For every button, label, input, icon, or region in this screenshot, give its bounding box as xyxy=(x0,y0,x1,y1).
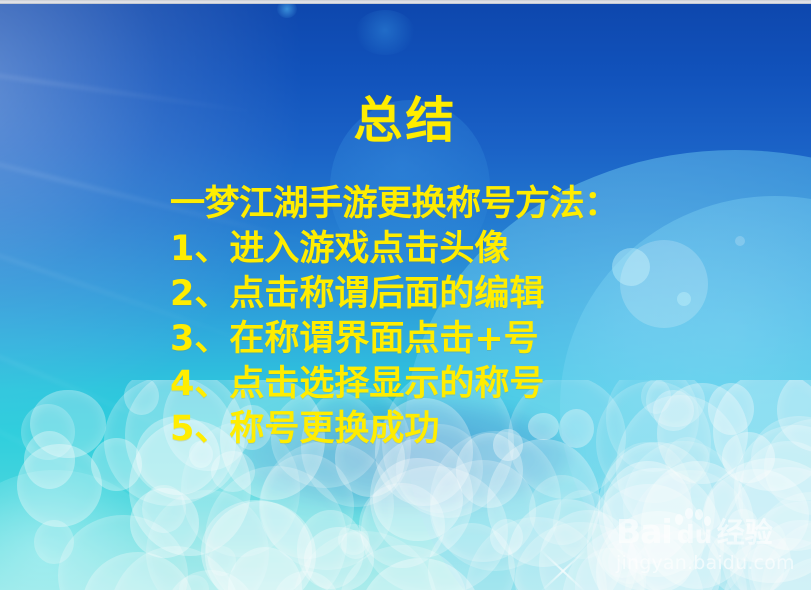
body-line-heading: 一梦江湖手游更换称号方法： xyxy=(170,182,790,227)
background-orb xyxy=(355,10,415,55)
body-line-step-5: 5、称号更换成功 xyxy=(170,407,790,452)
body-line-step-2: 2、点击称谓后面的编辑 xyxy=(170,272,790,317)
baidu-jingyan-watermark: Bai du 经验 jingyan.baidu.com xyxy=(616,506,806,578)
body-line-step-1: 1、进入游戏点击头像 xyxy=(170,227,790,272)
window-top-edge xyxy=(0,0,811,4)
watermark-brand-row: Bai du 经验 xyxy=(616,506,806,548)
slide-body: 一梦江湖手游更换称号方法： 1、进入游戏点击头像 2、点击称谓后面的编辑 3、在… xyxy=(170,182,790,452)
watermark-brand-latin: Bai xyxy=(616,515,672,548)
sparkle-icon xyxy=(532,540,594,590)
body-line-step-4: 4、点击选择显示的称号 xyxy=(170,362,790,407)
page-title: 总结 xyxy=(0,96,811,145)
body-line-step-3: 3、在称谓界面点击+号 xyxy=(170,317,790,362)
paw-print-icon: du xyxy=(673,508,713,548)
presentation-slide: 总结 一梦江湖手游更换称号方法： 1、进入游戏点击头像 2、点击称谓后面的编辑 … xyxy=(0,0,811,590)
watermark-url: jingyan.baidu.com xyxy=(616,552,806,574)
watermark-brand-du: du xyxy=(677,522,713,547)
watermark-brand-cn: 经验 xyxy=(717,518,773,548)
bokeh-bubble xyxy=(17,444,102,528)
bokeh-bubble xyxy=(529,475,596,545)
